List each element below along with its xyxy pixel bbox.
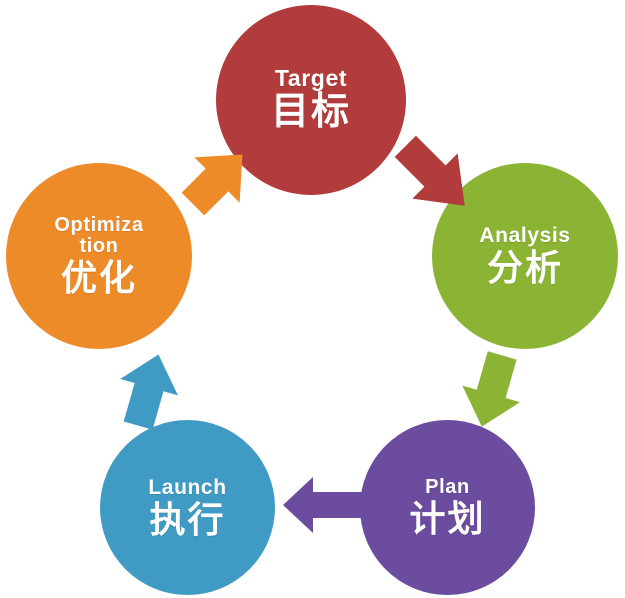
node-label-en: Launch [148, 477, 226, 499]
cycle-node-launch[interactable]: Launch 执行 [100, 420, 275, 595]
cycle-node-optimization[interactable]: Optimiza tion 优化 [6, 163, 192, 349]
arrow-analysis-to-plan-icon [452, 348, 532, 434]
node-label-en: Analysis [479, 225, 570, 247]
cycle-diagram: Target 目标 Analysis 分析 Plan 计划 Launch 执行 … [0, 0, 625, 598]
node-label-en: Target [275, 67, 347, 91]
arrow-shape [283, 477, 363, 533]
arrow-shape [109, 346, 187, 434]
node-label-zh: 优化 [61, 259, 137, 296]
node-label-zh: 执行 [149, 501, 225, 538]
arrow-shape [383, 124, 488, 229]
arrow-target-to-analysis-icon [383, 128, 487, 224]
node-label-zh: 分析 [487, 249, 563, 286]
node-label-en: Plan [425, 477, 470, 498]
node-label-en: Optimiza tion [40, 215, 157, 257]
node-label-zh: 目标 [271, 93, 351, 133]
node-label-zh: 计划 [409, 500, 485, 537]
arrow-shape [453, 347, 531, 435]
cycle-node-plan[interactable]: Plan 计划 [360, 420, 535, 595]
arrow-optimization-to-target-icon [175, 140, 259, 220]
arrow-plan-to-launch-icon [283, 474, 365, 536]
arrow-shape [170, 132, 265, 227]
arrow-launch-to-optimization-icon [108, 348, 188, 434]
